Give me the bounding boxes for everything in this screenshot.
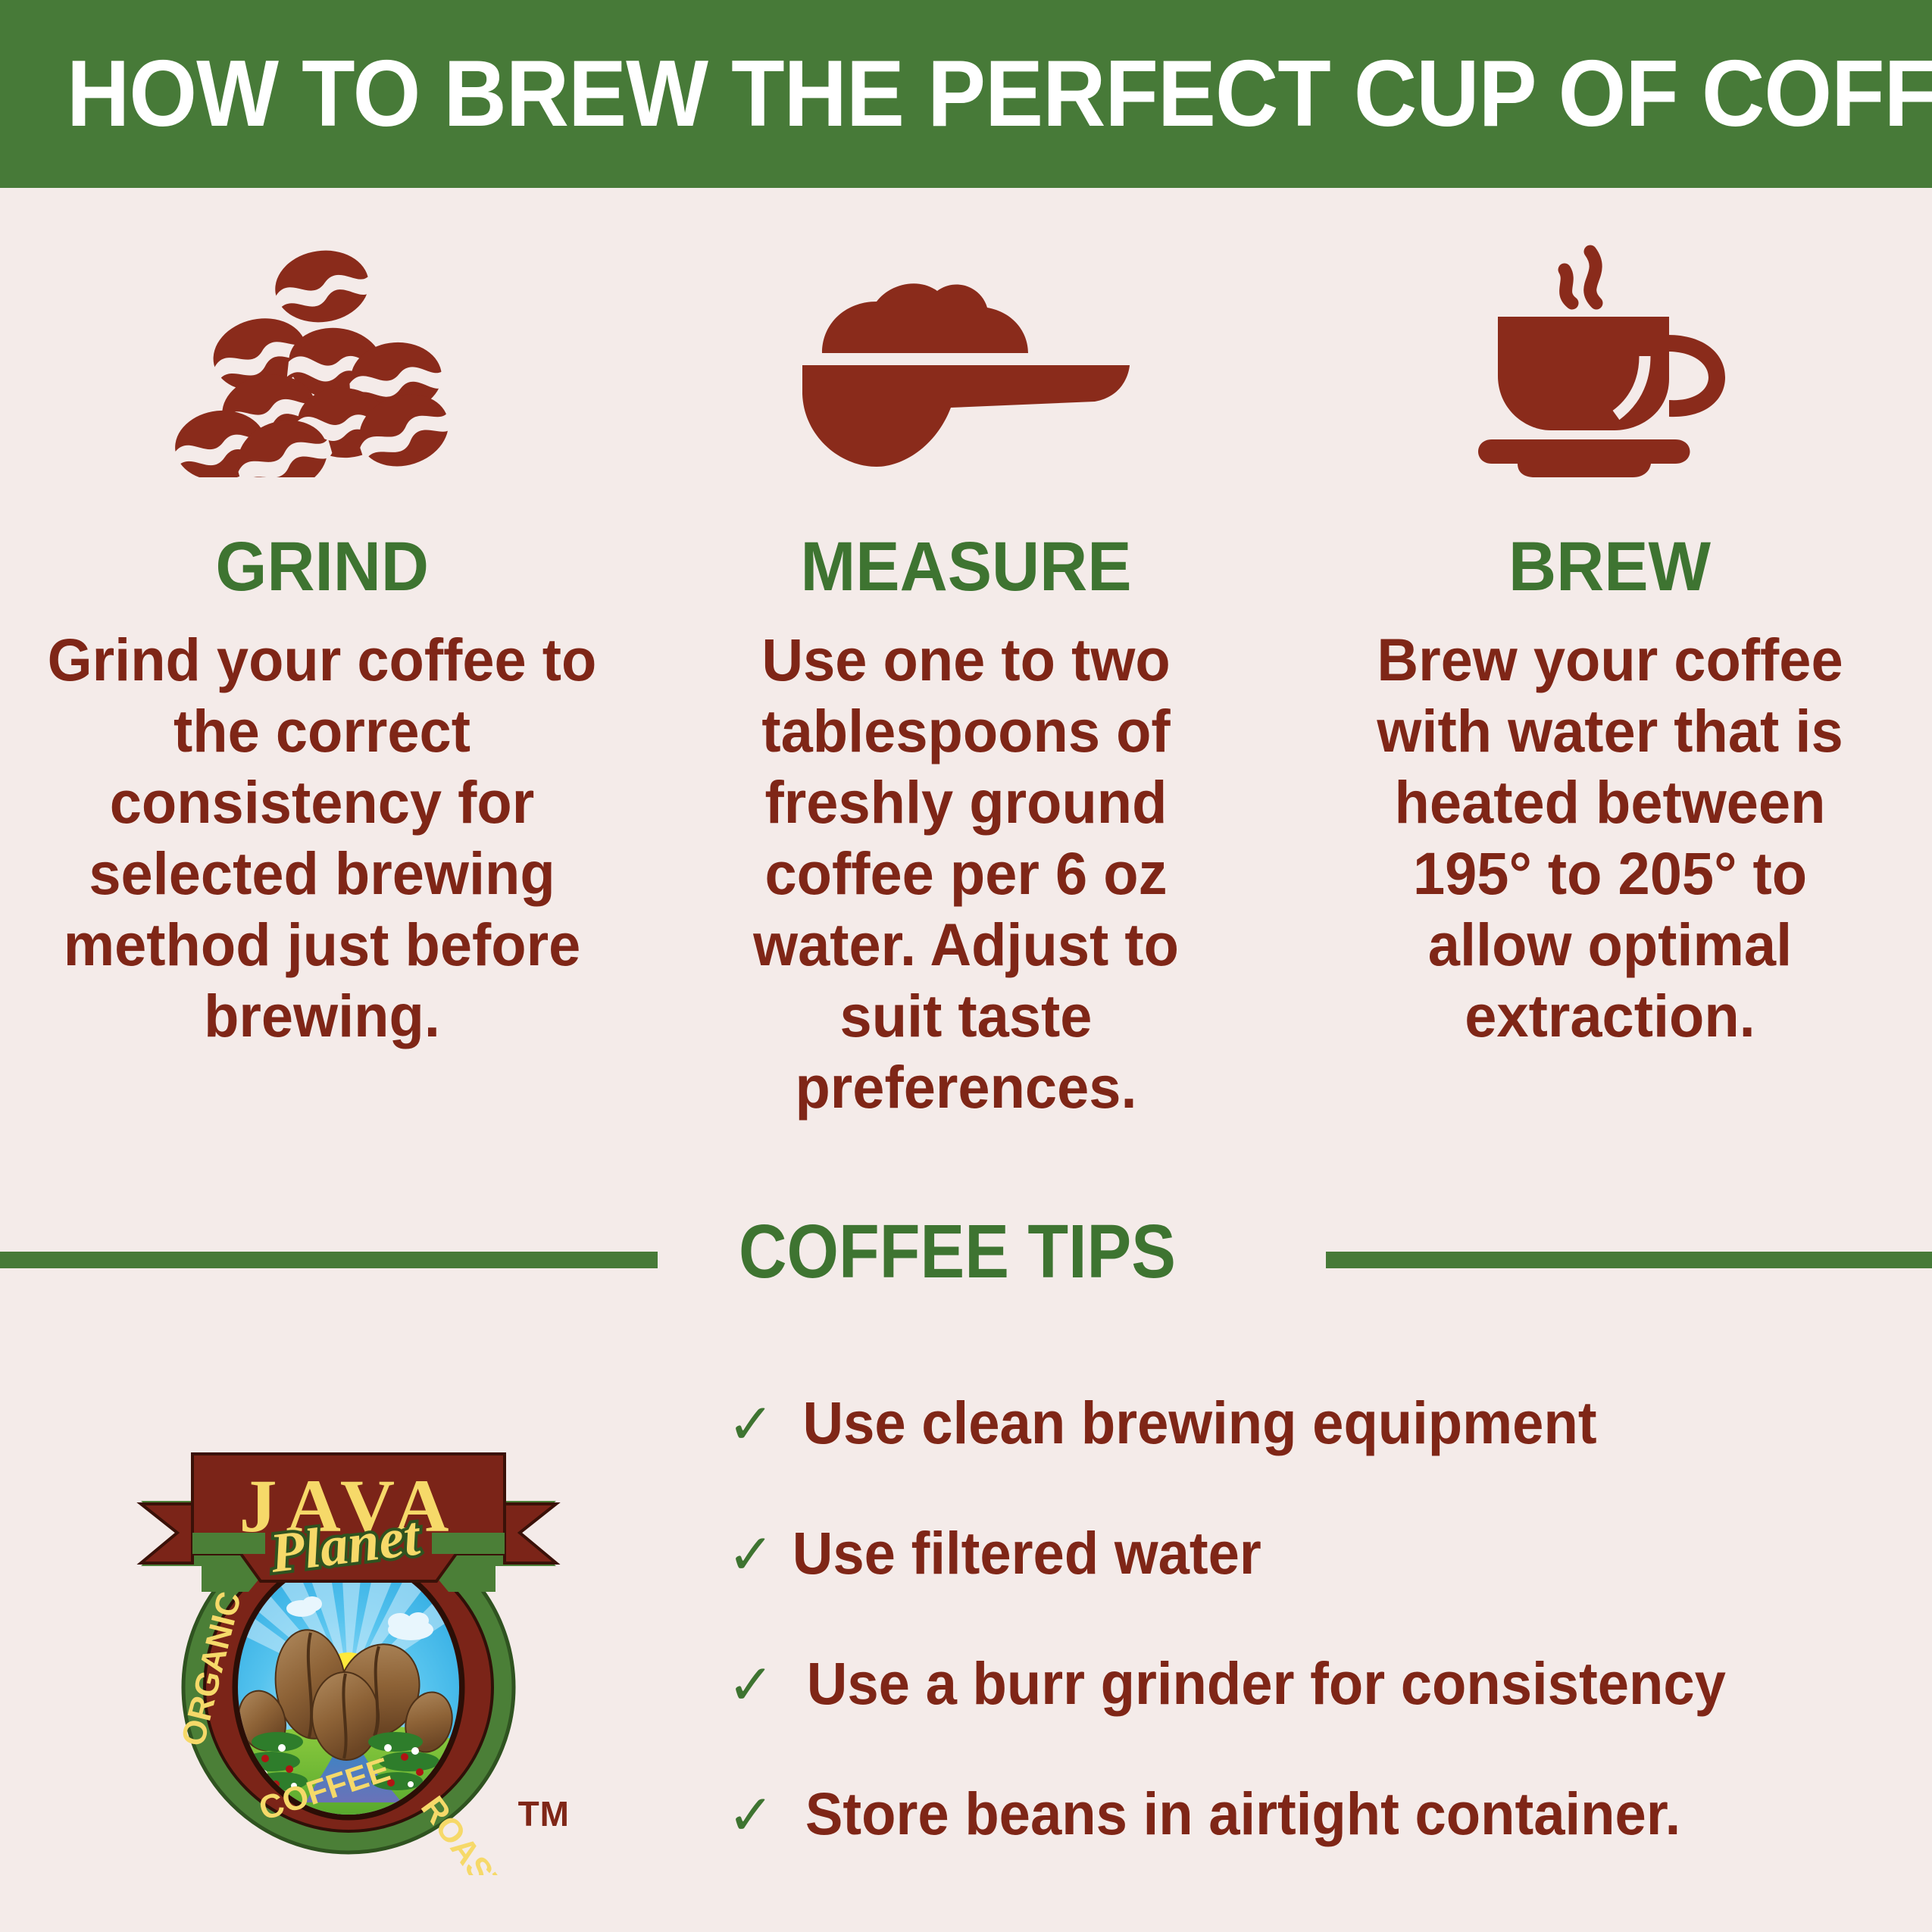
java-planet-logo: ORGANIC COFFEE ROASTERS JAVA Planet TM [114,1405,583,1875]
tip-text: Store beans in airtight container. [805,1784,1680,1843]
tip-text: Use filtered water [792,1523,1261,1583]
list-item: ✓ Store beans in airtight container. [727,1784,1909,1914]
divider-rule-left [0,1252,658,1268]
coffee-tips-title: COFFEE TIPS [739,1214,1176,1290]
step-heading-brew: BREW [1508,532,1711,602]
tip-text: Use a burr grinder for consistency [807,1653,1726,1713]
step-body-measure: Use one to two tablespoons of freshly gr… [740,624,1191,1123]
tip-text: Use clean brewing equipment [802,1393,1596,1452]
coffee-tips-list: ✓ Use clean brewing equipment ✓ Use filt… [727,1393,1909,1914]
list-item: ✓ Use clean brewing equipment [727,1393,1909,1523]
check-icon: ✓ [727,1527,777,1583]
check-icon: ✓ [727,1657,777,1713]
step-body-brew: Brew your coffee with water that is heat… [1355,624,1865,1052]
header-bar: HOW TO BREW THE PERFECT CUP OF COFFEE [0,0,1932,188]
step-heading-grind: GRIND [215,532,429,602]
step-column-grind: GRIND Grind your coffee to the correct c… [0,227,644,1123]
list-item: ✓ Use a burr grinder for consistency [727,1653,1909,1784]
divider-rule-right [1326,1252,1932,1268]
coffee-beans-icon [170,227,474,477]
check-icon: ✓ [727,1396,777,1452]
infographic-page: HOW TO BREW THE PERFECT CUP OF COFFEE [0,0,1932,1932]
measuring-spoon-icon [792,227,1140,477]
page-title: HOW TO BREW THE PERFECT CUP OF COFFEE [67,47,1932,141]
coffee-tips-divider: COFFEE TIPS [0,1224,1932,1308]
step-column-measure: MEASURE Use one to two tablespoons of fr… [644,227,1288,1123]
list-item: ✓ Use filtered water [727,1523,1909,1653]
coffee-cup-icon [1458,227,1762,477]
steps-row: GRIND Grind your coffee to the correct c… [0,227,1932,1123]
trademark-symbol: TM [518,1793,570,1834]
step-body-grind: Grind your coffee to the correct consist… [45,624,599,1052]
check-icon: ✓ [727,1787,777,1843]
step-heading-measure: MEASURE [800,532,1131,602]
step-column-brew: BREW Brew your coffee with water that is… [1288,227,1932,1123]
